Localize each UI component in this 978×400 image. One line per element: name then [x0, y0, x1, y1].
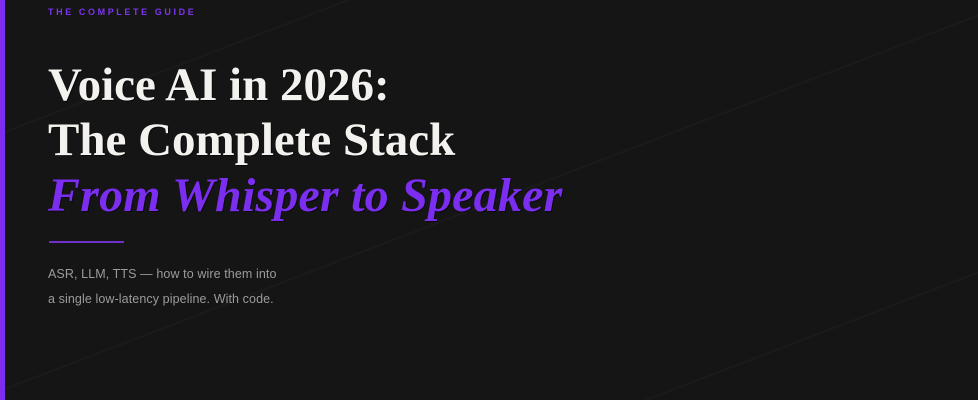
hero-banner: THE COMPLETE GUIDE Voice AI in 2026: The…: [0, 0, 978, 400]
title-divider: [49, 241, 124, 243]
left-accent-rail: [0, 0, 5, 400]
eyebrow-label: THE COMPLETE GUIDE: [48, 7, 196, 17]
hero-content: THE COMPLETE GUIDE Voice AI in 2026: The…: [48, 0, 948, 400]
page-title: Voice AI in 2026: The Complete Stack Fro…: [48, 58, 908, 223]
headline-line-1: Voice AI in 2026:: [48, 58, 908, 113]
subtitle: ASR, LLM, TTS — how to wire them into a …: [48, 262, 468, 312]
headline-line-2: The Complete Stack: [48, 113, 908, 168]
subtitle-line-1: ASR, LLM, TTS — how to wire them into: [48, 262, 468, 287]
headline-line-3-accent: From Whisper to Speaker: [48, 168, 908, 223]
subtitle-line-2: a single low-latency pipeline. With code…: [48, 287, 468, 312]
